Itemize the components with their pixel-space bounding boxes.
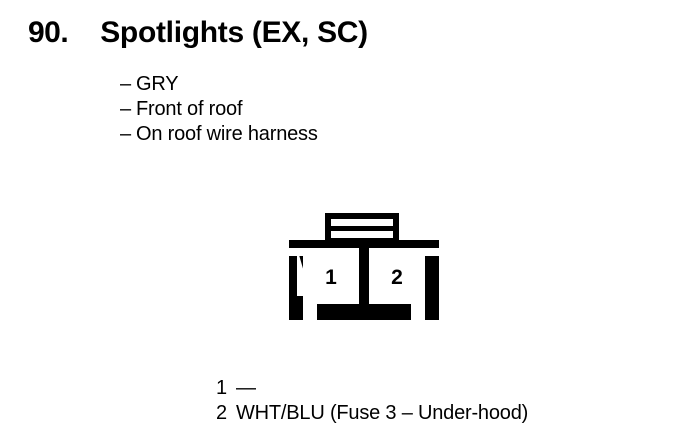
entry-title: Spotlights (EX, SC) — [100, 18, 368, 48]
dash-marker: – — [120, 122, 136, 147]
legend-row: 1 — — [216, 376, 656, 401]
pin-number-2: 2 — [391, 266, 403, 289]
legend-pin-number: 1 — [216, 376, 236, 401]
connector-drawing: 1 2 — [286, 210, 442, 324]
connector-diagram: 1 2 — [286, 210, 442, 324]
diagram-page: 90. Spotlights (EX, SC) –GRY –Front of r… — [0, 0, 688, 448]
list-item: –GRY — [120, 72, 540, 97]
pin-number-1: 1 — [325, 266, 337, 289]
legend-row: 2 WHT/BLU (Fuse 3 – Under-hood) — [216, 401, 656, 426]
right-shoulder-notch — [425, 248, 439, 256]
dash-marker: – — [120, 97, 136, 122]
page-title: 90. Spotlights (EX, SC) — [28, 18, 368, 48]
connector-locking-tab — [325, 213, 399, 240]
list-item-label: On roof wire harness — [136, 123, 318, 145]
left-shoulder-notch — [289, 248, 303, 256]
legend-pin-number: 2 — [216, 401, 236, 426]
pin-legend: 1 — 2 WHT/BLU (Fuse 3 – Under-hood) — [216, 376, 656, 426]
dash-marker: – — [120, 72, 136, 97]
legend-pin-description: — — [236, 376, 256, 401]
legend-pin-description: WHT/BLU (Fuse 3 – Under-hood) — [236, 401, 528, 426]
list-item: –On roof wire harness — [120, 122, 540, 147]
list-item: –Front of roof — [120, 97, 540, 122]
list-item-label: Front of roof — [136, 98, 242, 120]
entry-number: 90. — [28, 18, 68, 48]
list-item-label: GRY — [136, 73, 178, 95]
description-list: –GRY –Front of roof –On roof wire harnes… — [120, 72, 540, 147]
